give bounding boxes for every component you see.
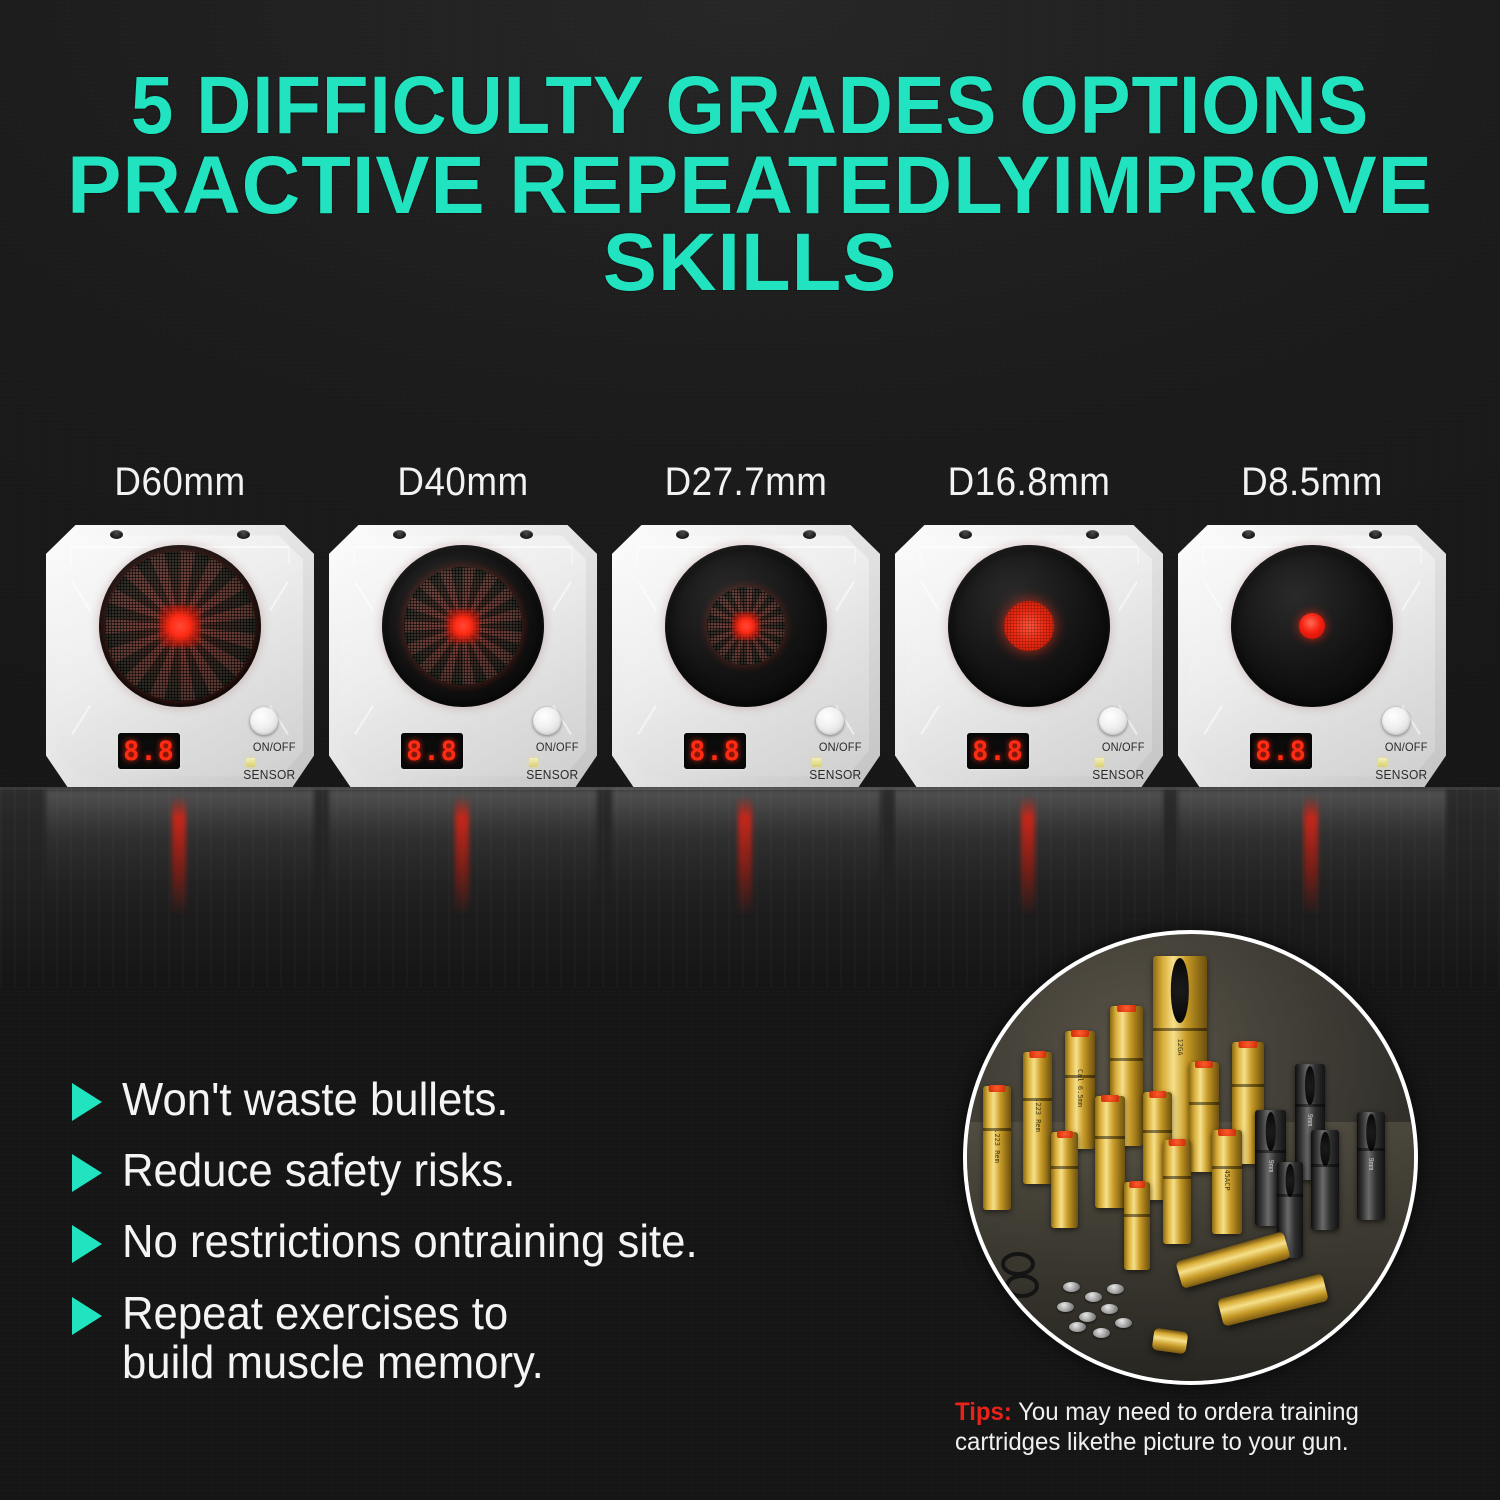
cartridge-lying bbox=[1152, 1328, 1189, 1355]
target-mesh bbox=[707, 587, 785, 665]
power-button-label-1: ON/OFF bbox=[253, 740, 296, 754]
sensor-label-2: SENSOR bbox=[527, 767, 579, 782]
led-value-5: 8.8 bbox=[1255, 738, 1307, 765]
benefit-text-1: Won't waste bullets. bbox=[122, 1075, 508, 1124]
sensor-led-icon bbox=[1378, 758, 1387, 767]
target-ring-2[interactable] bbox=[382, 545, 544, 707]
power-button-4[interactable] bbox=[1099, 707, 1127, 735]
target-device-3[interactable]: 8.8 ON/OFF SENSOR bbox=[612, 525, 880, 787]
screw-icon bbox=[520, 530, 533, 539]
target-disc-1[interactable] bbox=[105, 551, 255, 701]
cartridge-label: 9mm bbox=[1367, 1158, 1375, 1171]
target-disc-3[interactable] bbox=[707, 587, 785, 665]
target-mosaic bbox=[105, 551, 255, 701]
target-disc-2[interactable] bbox=[404, 567, 522, 685]
screw-icon bbox=[237, 530, 250, 539]
laser-tip-icon bbox=[1029, 1051, 1046, 1058]
target-device-2[interactable]: 8.8 ON/OFF SENSOR bbox=[329, 525, 597, 787]
triangle-bullet-icon bbox=[72, 1154, 102, 1192]
target-mesh bbox=[1004, 601, 1054, 651]
power-button-label-2: ON/OFF bbox=[536, 740, 579, 754]
benefit-text-4: Repeat exercises to build muscle memory. bbox=[122, 1289, 544, 1387]
muzzle-hole-icon bbox=[1171, 958, 1189, 1023]
cartridge-item bbox=[1163, 1140, 1191, 1244]
led-display-4: 8.8 bbox=[967, 733, 1029, 769]
laser-tip-icon bbox=[1238, 1041, 1257, 1048]
triangle-bullet-icon bbox=[72, 1297, 102, 1335]
size-label-3: D27.7mm bbox=[626, 460, 865, 505]
reflection-laser bbox=[1021, 796, 1035, 916]
led-value-3: 8.8 bbox=[689, 738, 741, 765]
laser-tip-icon bbox=[989, 1085, 1006, 1092]
size-label-2: D40mm bbox=[343, 460, 582, 505]
cartridge-label: 9mm bbox=[1267, 1159, 1275, 1172]
power-button-3[interactable] bbox=[816, 707, 844, 735]
headline-line-1: 5 DIFFICULTY GRADES OPTIONS bbox=[53, 68, 1448, 144]
reflection-laser bbox=[455, 796, 469, 916]
sensor-led-icon bbox=[246, 758, 255, 767]
led-value-4: 8.8 bbox=[972, 738, 1024, 765]
cartridge-item bbox=[1051, 1132, 1078, 1228]
cartridge-label: 45ACP bbox=[1223, 1169, 1231, 1190]
target-mosaic bbox=[707, 587, 785, 665]
page-title: 5 DIFFICULTY GRADES OPTIONS PRACTIVE REP… bbox=[0, 68, 1500, 301]
target-ring-4[interactable] bbox=[948, 545, 1110, 707]
laser-tip-icon bbox=[1218, 1129, 1236, 1136]
sensor-label-5: SENSOR bbox=[1376, 767, 1428, 782]
cartridge-label: 9mm bbox=[1306, 1113, 1314, 1126]
muzzle-hole-icon bbox=[1366, 1114, 1376, 1151]
cartridge-label: .223 Rem bbox=[993, 1129, 1001, 1163]
cartridge-item bbox=[1095, 1096, 1125, 1208]
target-disc-4[interactable] bbox=[1004, 601, 1054, 651]
power-button-2[interactable] bbox=[533, 707, 561, 735]
power-button-label-4: ON/OFF bbox=[1102, 740, 1145, 754]
reflection-laser bbox=[1304, 796, 1318, 916]
target-mosaic bbox=[404, 567, 522, 685]
power-button-5[interactable] bbox=[1382, 707, 1410, 735]
laser-tip-icon bbox=[1101, 1095, 1119, 1102]
list-item: Won't waste bullets. bbox=[72, 1075, 912, 1124]
laser-tip-icon bbox=[1071, 1030, 1089, 1037]
cartridge-item: .223 Rem bbox=[1023, 1052, 1052, 1184]
power-button-label-3: ON/OFF bbox=[819, 740, 862, 754]
power-button-1[interactable] bbox=[250, 707, 278, 735]
headline-line-2: PRACTIVE REPEATEDLYIMPROVE SKILLS bbox=[8, 148, 1493, 301]
benefit-text-2: Reduce safety risks. bbox=[122, 1146, 515, 1195]
laser-glow-1 bbox=[159, 605, 201, 647]
size-label-1: D60mm bbox=[60, 460, 299, 505]
reflection-laser bbox=[172, 796, 186, 916]
benefit-text-3: No restrictions ontraining site. bbox=[122, 1217, 698, 1266]
cartridge-photo: 12GA Cal 6.5mm .223 Rem .223 Rem bbox=[963, 930, 1418, 1385]
reflection-laser bbox=[738, 796, 752, 916]
sensor-led-icon bbox=[812, 758, 821, 767]
led-value-2: 8.8 bbox=[406, 738, 458, 765]
cartridge-label: .223 Rem bbox=[1034, 1099, 1042, 1133]
cartridge-item: 9mm bbox=[1357, 1112, 1385, 1220]
cartridge-item: .223 Rem bbox=[983, 1086, 1011, 1210]
laser-tip-icon bbox=[1129, 1181, 1145, 1188]
sensor-led-icon bbox=[529, 758, 538, 767]
size-label-5: D8.5mm bbox=[1192, 460, 1431, 505]
led-display-2: 8.8 bbox=[401, 733, 463, 769]
triangle-bullet-icon bbox=[72, 1083, 102, 1121]
cartridge-photo-circle: 12GA Cal 6.5mm .223 Rem .223 Rem bbox=[963, 930, 1418, 1385]
laser-tip-icon bbox=[1195, 1061, 1213, 1068]
list-item: Repeat exercises to build muscle memory. bbox=[72, 1289, 912, 1387]
laser-tip-icon bbox=[1056, 1131, 1072, 1138]
sensor-led-icon bbox=[1095, 758, 1104, 767]
cartridge-label: 12GA bbox=[1176, 1039, 1184, 1056]
target-device-5[interactable]: 8.8 ON/OFF SENSOR bbox=[1178, 525, 1446, 787]
target-ring-3[interactable] bbox=[665, 545, 827, 707]
laser-tip-icon bbox=[1117, 1005, 1137, 1012]
led-display-3: 8.8 bbox=[684, 733, 746, 769]
laser-glow-2 bbox=[446, 609, 480, 643]
led-display-5: 8.8 bbox=[1250, 733, 1312, 769]
benefits-list: Won't waste bullets. Reduce safety risks… bbox=[72, 1075, 912, 1409]
target-mesh bbox=[404, 567, 522, 685]
power-button-label-5: ON/OFF bbox=[1385, 740, 1428, 754]
sensor-label-4: SENSOR bbox=[1093, 767, 1145, 782]
laser-tip-icon bbox=[1169, 1139, 1186, 1146]
led-display-1: 8.8 bbox=[118, 733, 180, 769]
triangle-bullet-icon bbox=[72, 1225, 102, 1263]
cartridge-item bbox=[1124, 1182, 1150, 1270]
muzzle-hole-icon bbox=[1265, 1112, 1276, 1151]
target-device-4[interactable]: 8.8 ON/OFF SENSOR bbox=[895, 525, 1163, 787]
target-ring-5[interactable] bbox=[1231, 545, 1393, 707]
cartridge-item bbox=[1311, 1130, 1339, 1230]
device-row: 8.8 ON/OFF SENSOR 8.8 ON/OFF SENSOR bbox=[0, 525, 1500, 800]
muzzle-hole-icon bbox=[1286, 1164, 1295, 1197]
cartridge-label: Cal 6.5mm bbox=[1076, 1069, 1084, 1107]
target-ring-1[interactable] bbox=[99, 545, 261, 707]
led-value-1: 8.8 bbox=[123, 738, 175, 765]
sensor-label-1: SENSOR bbox=[244, 767, 296, 782]
target-mesh bbox=[105, 551, 255, 701]
laser-tip-icon bbox=[1149, 1091, 1166, 1098]
list-item: Reduce safety risks. bbox=[72, 1146, 912, 1195]
target-disc-5[interactable] bbox=[1299, 613, 1325, 639]
muzzle-hole-icon bbox=[1320, 1132, 1330, 1166]
tips-note: Tips: You may need to ordera training ca… bbox=[955, 1398, 1440, 1457]
screw-icon bbox=[803, 530, 816, 539]
laser-glow-3 bbox=[732, 612, 760, 640]
screw-icon bbox=[1086, 530, 1099, 539]
tips-keyword: Tips: bbox=[955, 1398, 1012, 1426]
sensor-label-3: SENSOR bbox=[810, 767, 862, 782]
target-size-label-row: D60mm D40mm D27.7mm D16.8mm D8.5mm bbox=[0, 460, 1500, 510]
target-device-1[interactable]: 8.8 ON/OFF SENSOR bbox=[46, 525, 314, 787]
list-item: No restrictions ontraining site. bbox=[72, 1217, 912, 1266]
size-label-4: D16.8mm bbox=[909, 460, 1148, 505]
tips-text: You may need to ordera training cartridg… bbox=[955, 1398, 1359, 1456]
cartridge-item: 45ACP bbox=[1212, 1130, 1242, 1234]
device-reflections bbox=[0, 790, 1500, 940]
screw-icon bbox=[1369, 530, 1382, 539]
muzzle-hole-icon bbox=[1305, 1066, 1315, 1105]
